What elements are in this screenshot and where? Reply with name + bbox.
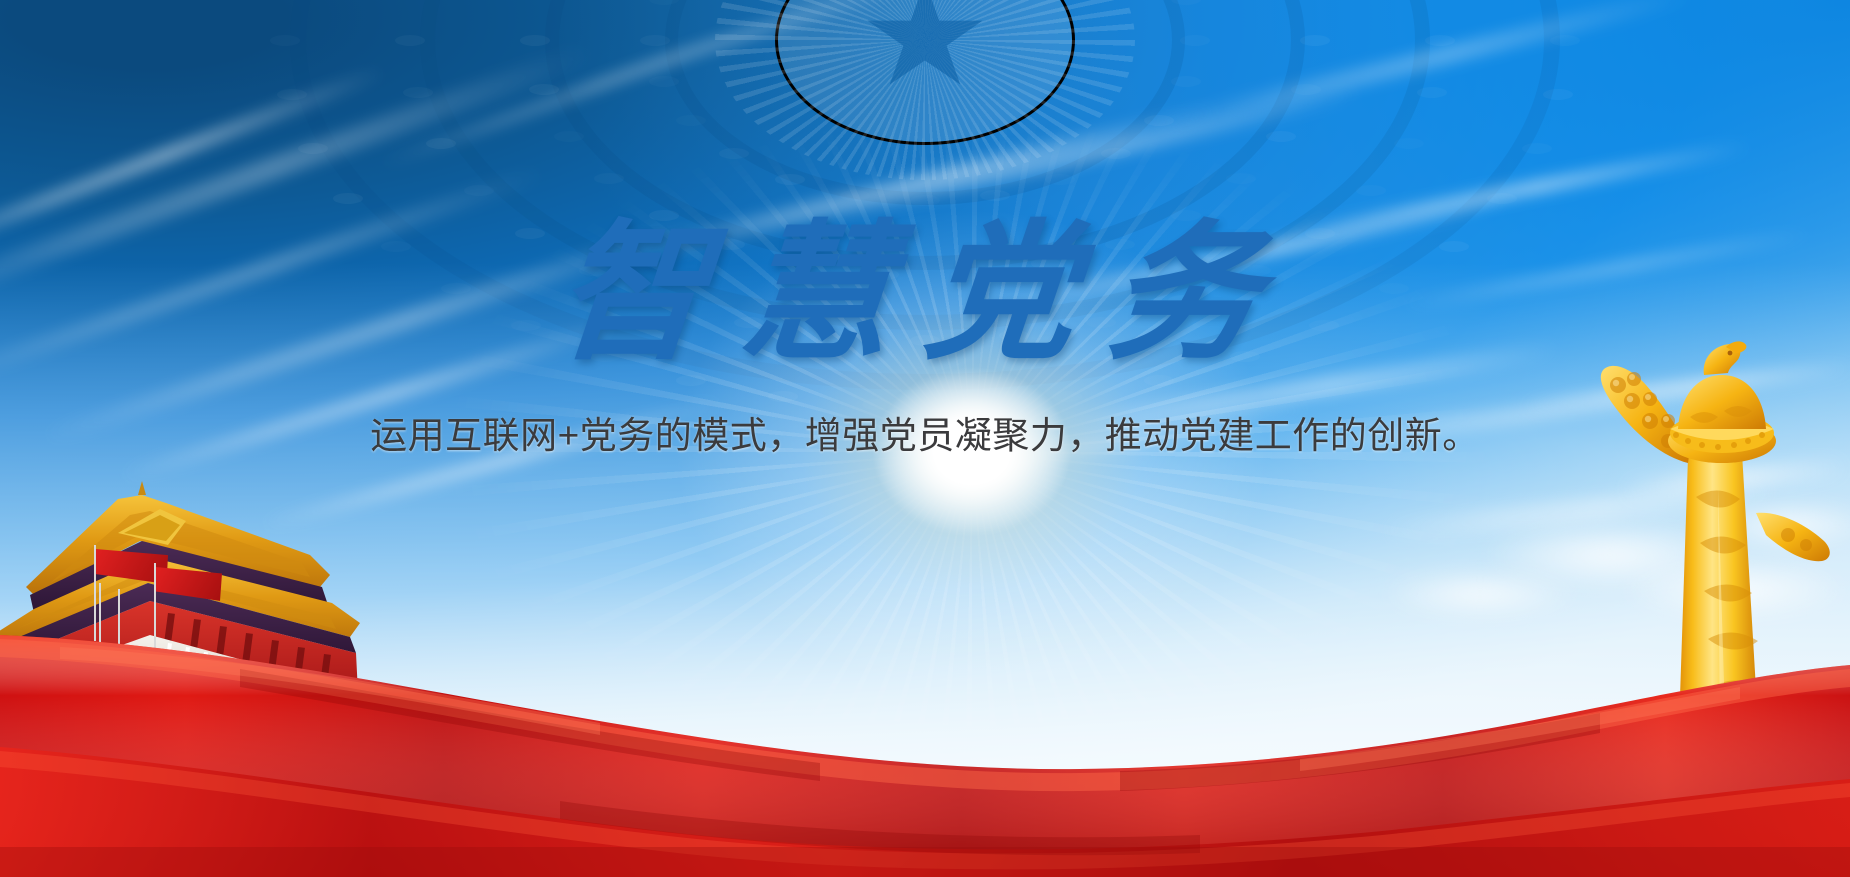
red-silk-ribbon-illustration <box>0 547 1850 877</box>
red-silk-ribbon <box>0 547 1850 877</box>
banner-hero: 智慧党务 运用互联网+党务的模式，增强党员凝聚力，推动党建工作的创新。 <box>0 0 1850 877</box>
page-title: 智慧党务 <box>0 215 1850 373</box>
